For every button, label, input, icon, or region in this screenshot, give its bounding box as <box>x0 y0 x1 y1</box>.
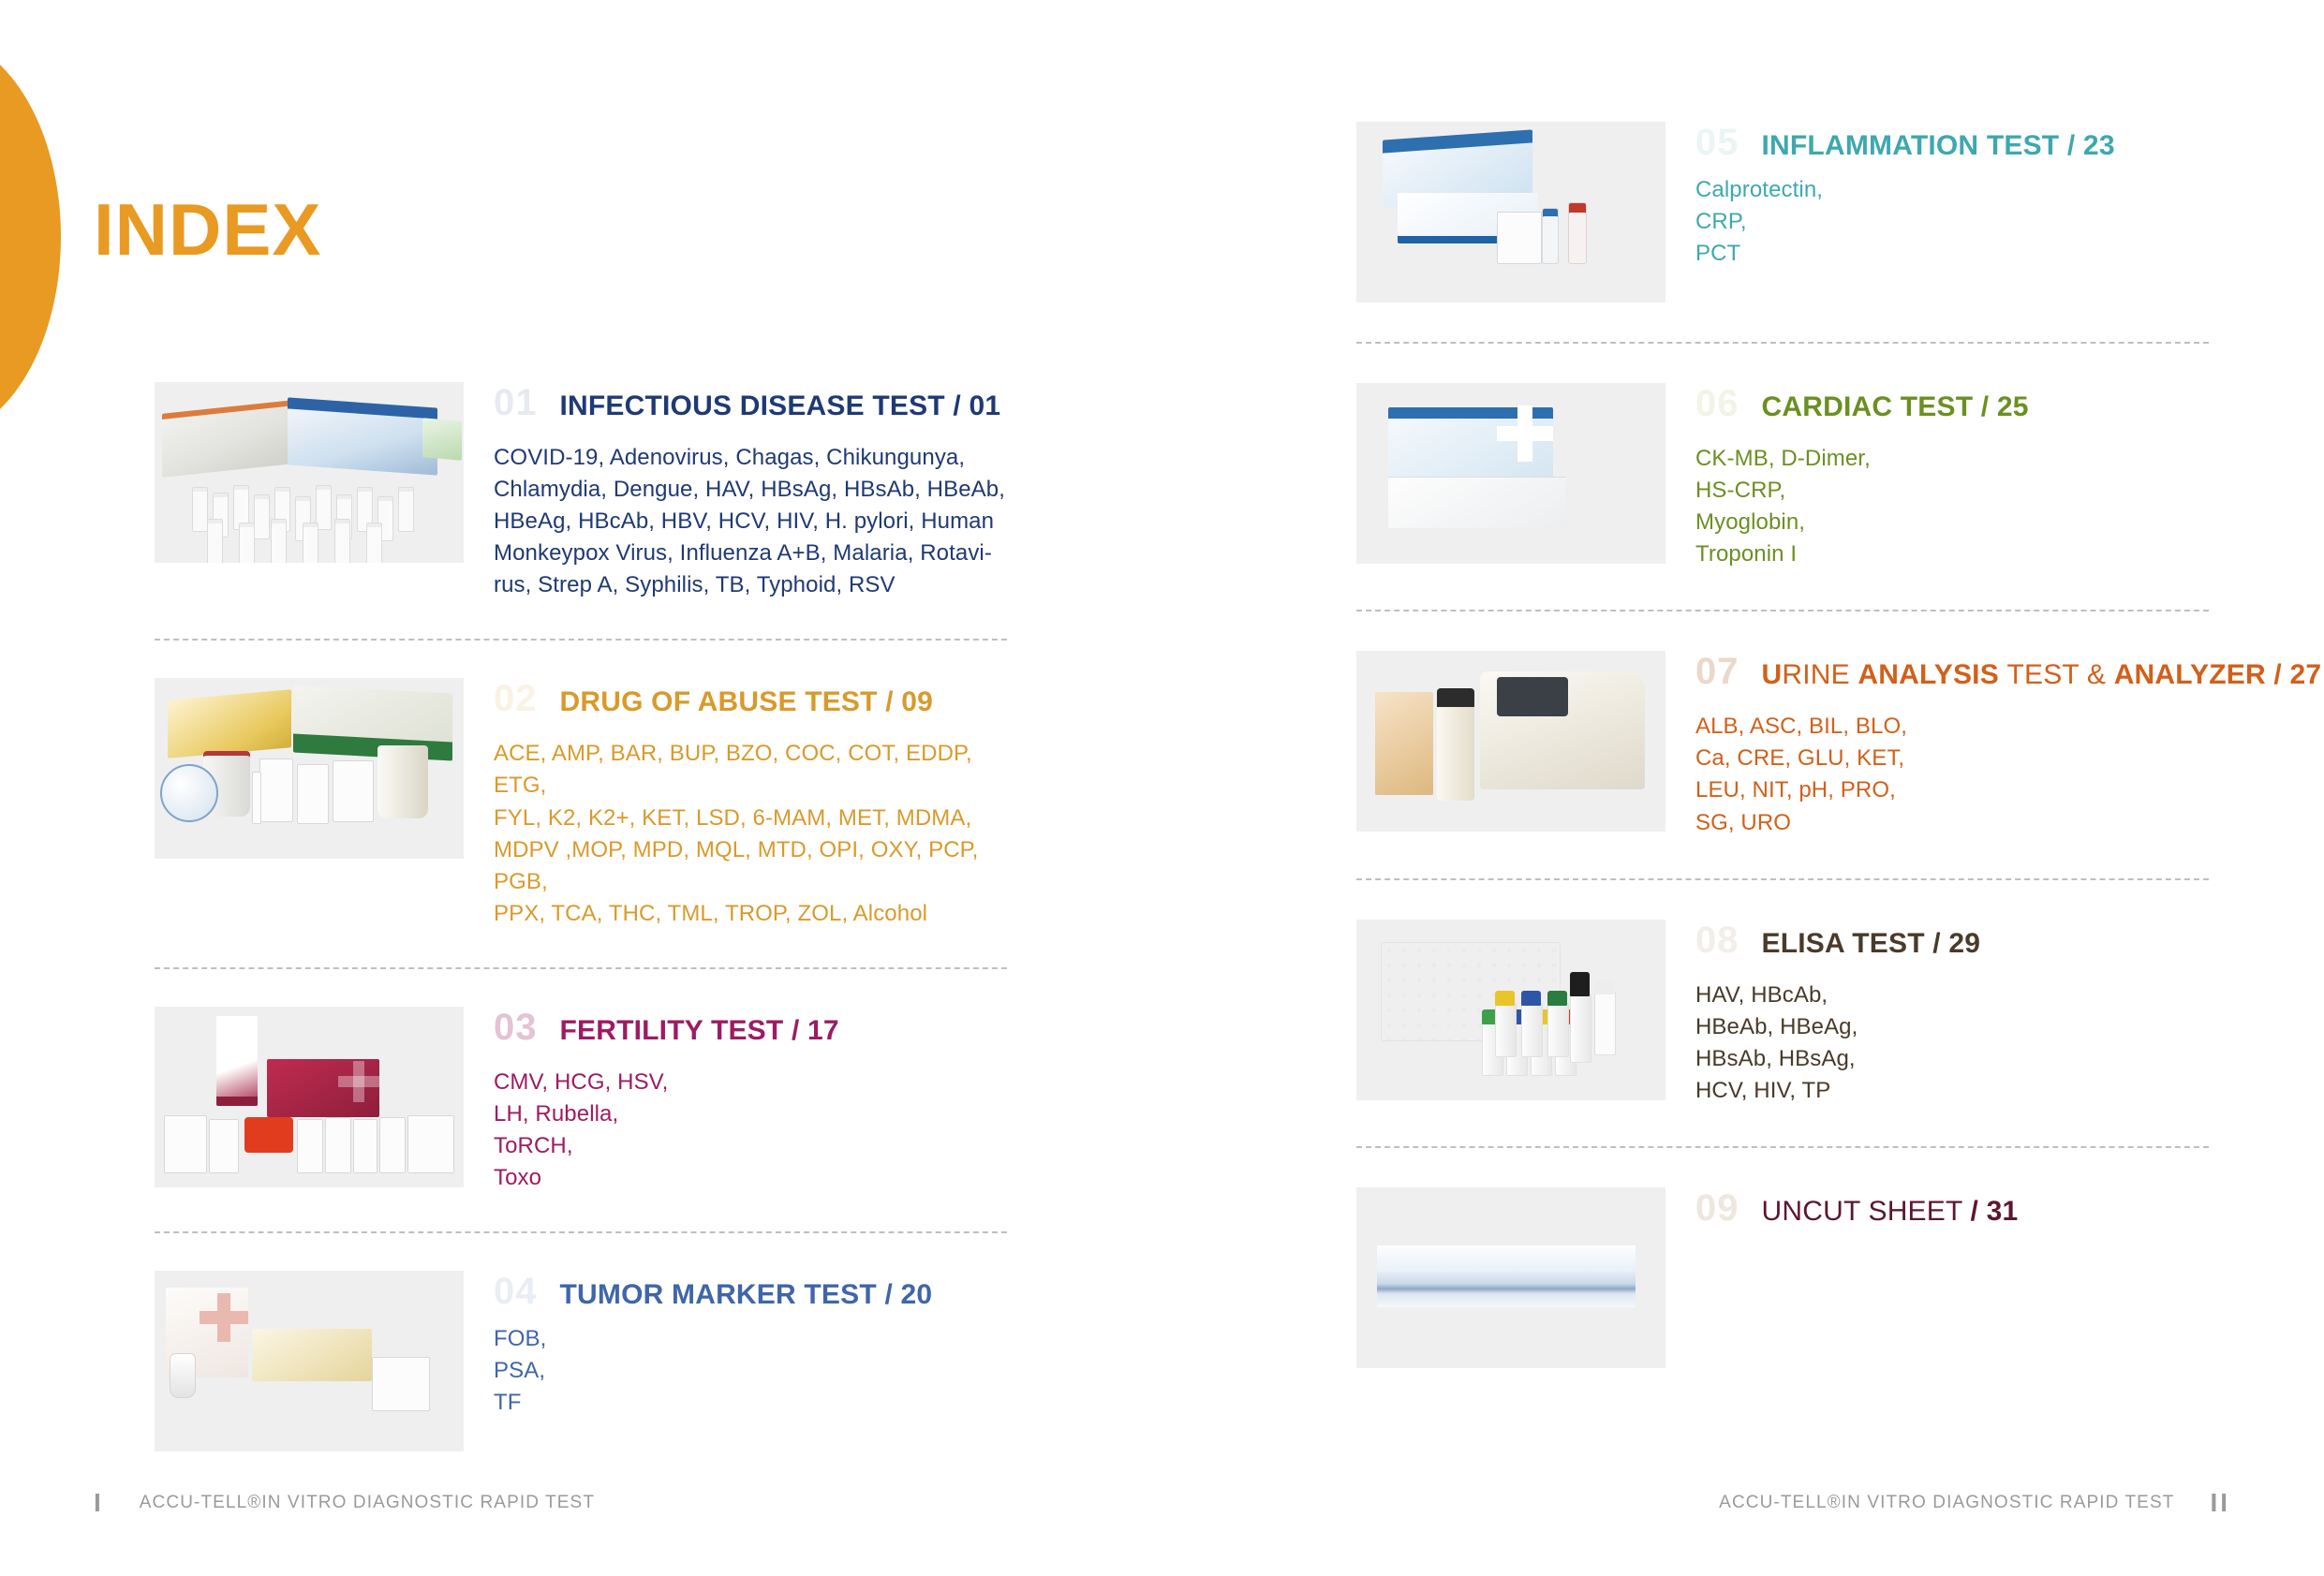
entry-heading: 08 ELISA TEST / 29 <box>1695 921 2209 959</box>
footer-right: ACCU-TELL®IN VITRO DIAGNOSTIC RAPID TEST… <box>1719 1490 2230 1516</box>
entry-title-text: INFECTIOUS DISEASE TEST <box>560 390 945 421</box>
footer-brand-right: ACCU-TELL®IN VITRO DIAGNOSTIC RAPID TEST <box>1719 1493 2174 1513</box>
index-column-right: 05 INFLAMMATION TEST / 23 Calprotectin, … <box>1356 122 2209 1368</box>
page-title: INDEX <box>94 193 321 266</box>
entry-title: TUMOR MARKER TEST / 20 <box>560 1281 933 1309</box>
entry-page-ref: / 23 <box>2067 130 2115 161</box>
entry-number: 01 <box>494 384 538 421</box>
entry-heading: 07 URINE ANALYSIS TEST & ANALYZER / 27 <box>1695 653 2321 690</box>
entry-heading: 09 UNCUT SHEET / 31 <box>1695 1189 2209 1227</box>
entry-text-inflammation: 05 INFLAMMATION TEST / 23 Calprotectin, … <box>1665 122 2209 270</box>
entry-title: URINE ANALYSIS TEST & ANALYZER / 27 <box>1762 661 2322 689</box>
entry-heading: 06 CARDIAC TEST / 25 <box>1695 385 2209 422</box>
entry-divider <box>155 1231 1007 1233</box>
entry-text-uncut-sheet: 09 UNCUT SHEET / 31 <box>1665 1187 2209 1247</box>
entry-text-drug-of-abuse: 02 DRUG OF ABUSE TEST / 09 ACE, AMP, BAR… <box>464 678 1007 929</box>
entry-number: 02 <box>494 680 538 717</box>
index-entry-uncut-sheet[interactable]: 09 UNCUT SHEET / 31 <box>1356 1187 2209 1368</box>
thumbnail-urine-analysis <box>1356 651 1665 832</box>
index-entry-cardiac[interactable]: 06 CARDIAC TEST / 25 CK-MB, D-Dimer, HS-… <box>1356 383 2209 570</box>
entry-text-elisa: 08 ELISA TEST / 29 HAV, HBcAb, HBeAb, HB… <box>1665 920 2209 1107</box>
index-entry-tumor-marker[interactable]: 04 TUMOR MARKER TEST / 20 FOB, PSA, TF <box>155 1271 1007 1451</box>
index-entry-drug-of-abuse[interactable]: 02 DRUG OF ABUSE TEST / 09 ACE, AMP, BAR… <box>155 678 1007 929</box>
thumbnail-tumor-marker <box>155 1271 464 1451</box>
thumbnail-drug-of-abuse <box>155 678 464 859</box>
entry-title: CARDIAC TEST / 25 <box>1762 393 2029 421</box>
entry-number: 08 <box>1695 921 1739 959</box>
entry-text-cardiac: 06 CARDIAC TEST / 25 CK-MB, D-Dimer, HS-… <box>1665 383 2209 570</box>
index-column-left: 01 INFECTIOUS DISEASE TEST / 01 COVID-19… <box>155 382 1007 1451</box>
entry-number: 07 <box>1695 653 1739 690</box>
entry-title: INFLAMMATION TEST / 23 <box>1762 132 2115 160</box>
index-entry-fertility[interactable]: 03 FERTILITY TEST / 17 CMV, HCG, HSV, LH… <box>155 1007 1007 1194</box>
entry-divider <box>155 639 1007 641</box>
entry-page-ref: / 09 <box>885 686 933 717</box>
entry-divider <box>1356 342 2209 344</box>
entry-number: 05 <box>1695 124 1739 161</box>
entry-title: INFECTIOUS DISEASE TEST / 01 <box>560 392 1001 420</box>
entry-heading: 02 DRUG OF ABUSE TEST / 09 <box>494 680 1007 717</box>
entry-items: FOB, PSA, TF <box>494 1323 1007 1419</box>
footer-brand-left: ACCU-TELL®IN VITRO DIAGNOSTIC RAPID TEST <box>140 1493 595 1513</box>
thumbnail-elisa <box>1356 920 1665 1100</box>
entry-heading: 04 TUMOR MARKER TEST / 20 <box>494 1273 1007 1310</box>
entry-items: COVID-19, Adenovirus, Chagas, Chikunguny… <box>494 442 1007 601</box>
footer-left: I ACCU-TELL®IN VITRO DIAGNOSTIC RAPID TE… <box>94 1490 595 1516</box>
entry-page-ref: / 17 <box>792 1015 839 1046</box>
index-entry-elisa[interactable]: 08 ELISA TEST / 29 HAV, HBcAb, HBeAb, HB… <box>1356 920 2209 1107</box>
entry-items: ALB, ASC, BIL, BLO, Ca, CRE, GLU, KET, L… <box>1695 711 2321 838</box>
entry-number: 09 <box>1695 1189 1739 1227</box>
entry-items: HAV, HBcAb, HBeAb, HBeAg, HBsAb, HBsAg, … <box>1695 979 2209 1107</box>
entry-divider <box>1356 1146 2209 1148</box>
entry-items: CK-MB, D-Dimer, HS-CRP, Myoglobin, Tropo… <box>1695 443 2209 570</box>
folio-right: II <box>2210 1490 2230 1516</box>
index-entry-infectious-disease[interactable]: 01 INFECTIOUS DISEASE TEST / 01 COVID-19… <box>155 382 1007 601</box>
entry-heading: 05 INFLAMMATION TEST / 23 <box>1695 124 2209 161</box>
thumbnail-uncut-sheet <box>1356 1187 1665 1368</box>
thumbnail-cardiac <box>1356 383 1665 564</box>
entry-title-text: ELISA TEST <box>1762 928 1925 959</box>
entry-title-text: FERTILITY TEST <box>560 1015 784 1046</box>
entry-page-ref: / 20 <box>884 1279 932 1310</box>
entry-number: 03 <box>494 1009 538 1046</box>
entry-page-ref: / 31 <box>1971 1196 2019 1227</box>
entry-title-text: TUMOR MARKER TEST <box>560 1279 877 1310</box>
entry-text-tumor-marker: 04 TUMOR MARKER TEST / 20 FOB, PSA, TF <box>464 1271 1007 1419</box>
entry-page-ref: / 27 <box>2273 659 2321 690</box>
folio-left: I <box>94 1490 104 1516</box>
entry-divider <box>1356 878 2209 880</box>
entry-title: ELISA TEST / 29 <box>1762 930 1981 958</box>
entry-items: Calprotectin, CRP, PCT <box>1695 174 2209 270</box>
entry-heading: 03 FERTILITY TEST / 17 <box>494 1009 1007 1046</box>
brand-accent-ellipse <box>0 36 61 438</box>
entry-title: FERTILITY TEST / 17 <box>560 1017 839 1045</box>
entry-text-fertility: 03 FERTILITY TEST / 17 CMV, HCG, HSV, LH… <box>464 1007 1007 1194</box>
thumbnail-inflammation <box>1356 122 1665 302</box>
entry-page-ref: / 25 <box>1981 391 2029 422</box>
thumbnail-infectious-disease <box>155 382 464 563</box>
entry-divider <box>1356 610 2209 611</box>
index-entry-inflammation[interactable]: 05 INFLAMMATION TEST / 23 Calprotectin, … <box>1356 122 2209 302</box>
entry-items: CMV, HCG, HSV, LH, Rubella, ToRCH, Toxo <box>494 1067 1007 1194</box>
entry-number: 06 <box>1695 385 1739 422</box>
entry-title-text: URINE ANALYSIS TEST & ANALYZER <box>1762 659 2274 690</box>
thumbnail-fertility <box>155 1007 464 1187</box>
entry-title: DRUG OF ABUSE TEST / 09 <box>560 688 934 716</box>
index-entry-urine-analysis[interactable]: 07 URINE ANALYSIS TEST & ANALYZER / 27 A… <box>1356 651 2209 838</box>
entry-number: 04 <box>494 1273 538 1310</box>
entry-text-urine-analysis: 07 URINE ANALYSIS TEST & ANALYZER / 27 A… <box>1665 651 2321 838</box>
page-footer: I ACCU-TELL®IN VITRO DIAGNOSTIC RAPID TE… <box>0 1490 2324 1527</box>
entry-page-ref: / 29 <box>1932 928 1980 959</box>
entry-title-text: DRUG OF ABUSE TEST <box>560 686 878 717</box>
entry-divider <box>155 967 1007 969</box>
entry-title-text: UNCUT SHEET <box>1762 1196 1962 1227</box>
entry-title-text: INFLAMMATION TEST <box>1762 130 2060 161</box>
entry-page-ref: / 01 <box>953 390 1000 421</box>
entry-title: UNCUT SHEET / 31 <box>1762 1198 2019 1226</box>
entry-items: ACE, AMP, BAR, BUP, BZO, COC, COT, EDDP,… <box>494 738 1007 929</box>
entry-title-text: CARDIAC TEST <box>1762 391 1974 422</box>
entry-text-infectious-disease: 01 INFECTIOUS DISEASE TEST / 01 COVID-19… <box>464 382 1007 601</box>
entry-heading: 01 INFECTIOUS DISEASE TEST / 01 <box>494 384 1007 421</box>
